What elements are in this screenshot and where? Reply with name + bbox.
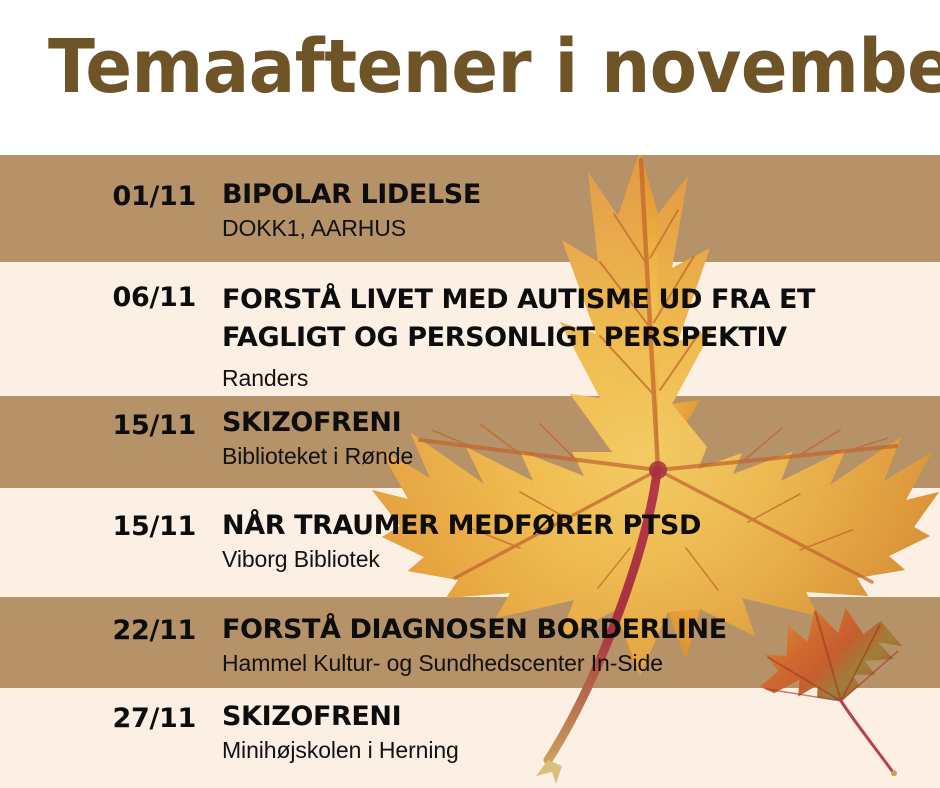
event-date: 15/11	[0, 411, 196, 441]
title-area: Temaaftener i november	[0, 0, 940, 155]
event-body: FORSTÅ DIAGNOSEN BORDERLINEHammel Kultur…	[222, 613, 922, 678]
event-venue: Viborg Bibliotek	[222, 544, 922, 574]
event-venue: Randers	[222, 363, 922, 393]
event-body: SKIZOFRENIBiblioteket i Rønde	[222, 406, 922, 471]
event-date: 15/11	[0, 512, 196, 542]
event-title: BIPOLAR LIDELSE	[222, 178, 922, 211]
event-venue: Hammel Kultur- og Sundhedscenter In-Side	[222, 648, 922, 678]
event-body: SKIZOFRENIMinihøjskolen i Herning	[222, 700, 922, 765]
event-date: 27/11	[0, 704, 196, 734]
event-date: 01/11	[0, 182, 196, 212]
event-title: FORSTÅ DIAGNOSEN BORDERLINE	[222, 613, 922, 646]
event-body: BIPOLAR LIDELSEDOKK1, AARHUS	[222, 178, 922, 243]
event-date: 22/11	[0, 616, 196, 646]
poster-canvas: Temaaftener i november 01/11BIPOLAR LIDE…	[0, 0, 940, 788]
event-title: NÅR TRAUMER MEDFØRER PTSD	[222, 509, 922, 542]
event-title: FORSTÅ LIVET MED AUTISME UD FRA ET FAGLI…	[222, 281, 922, 357]
event-venue: DOKK1, AARHUS	[222, 213, 922, 243]
event-title: SKIZOFRENI	[222, 406, 922, 439]
event-date: 06/11	[0, 283, 196, 313]
event-title: SKIZOFRENI	[222, 700, 922, 733]
event-venue: Biblioteket i Rønde	[222, 441, 922, 471]
event-body: NÅR TRAUMER MEDFØRER PTSDViborg Bibliote…	[222, 509, 922, 574]
event-body: FORSTÅ LIVET MED AUTISME UD FRA ET FAGLI…	[222, 281, 922, 393]
event-venue: Minihøjskolen i Herning	[222, 735, 922, 765]
page-title: Temaaftener i november	[48, 26, 940, 108]
